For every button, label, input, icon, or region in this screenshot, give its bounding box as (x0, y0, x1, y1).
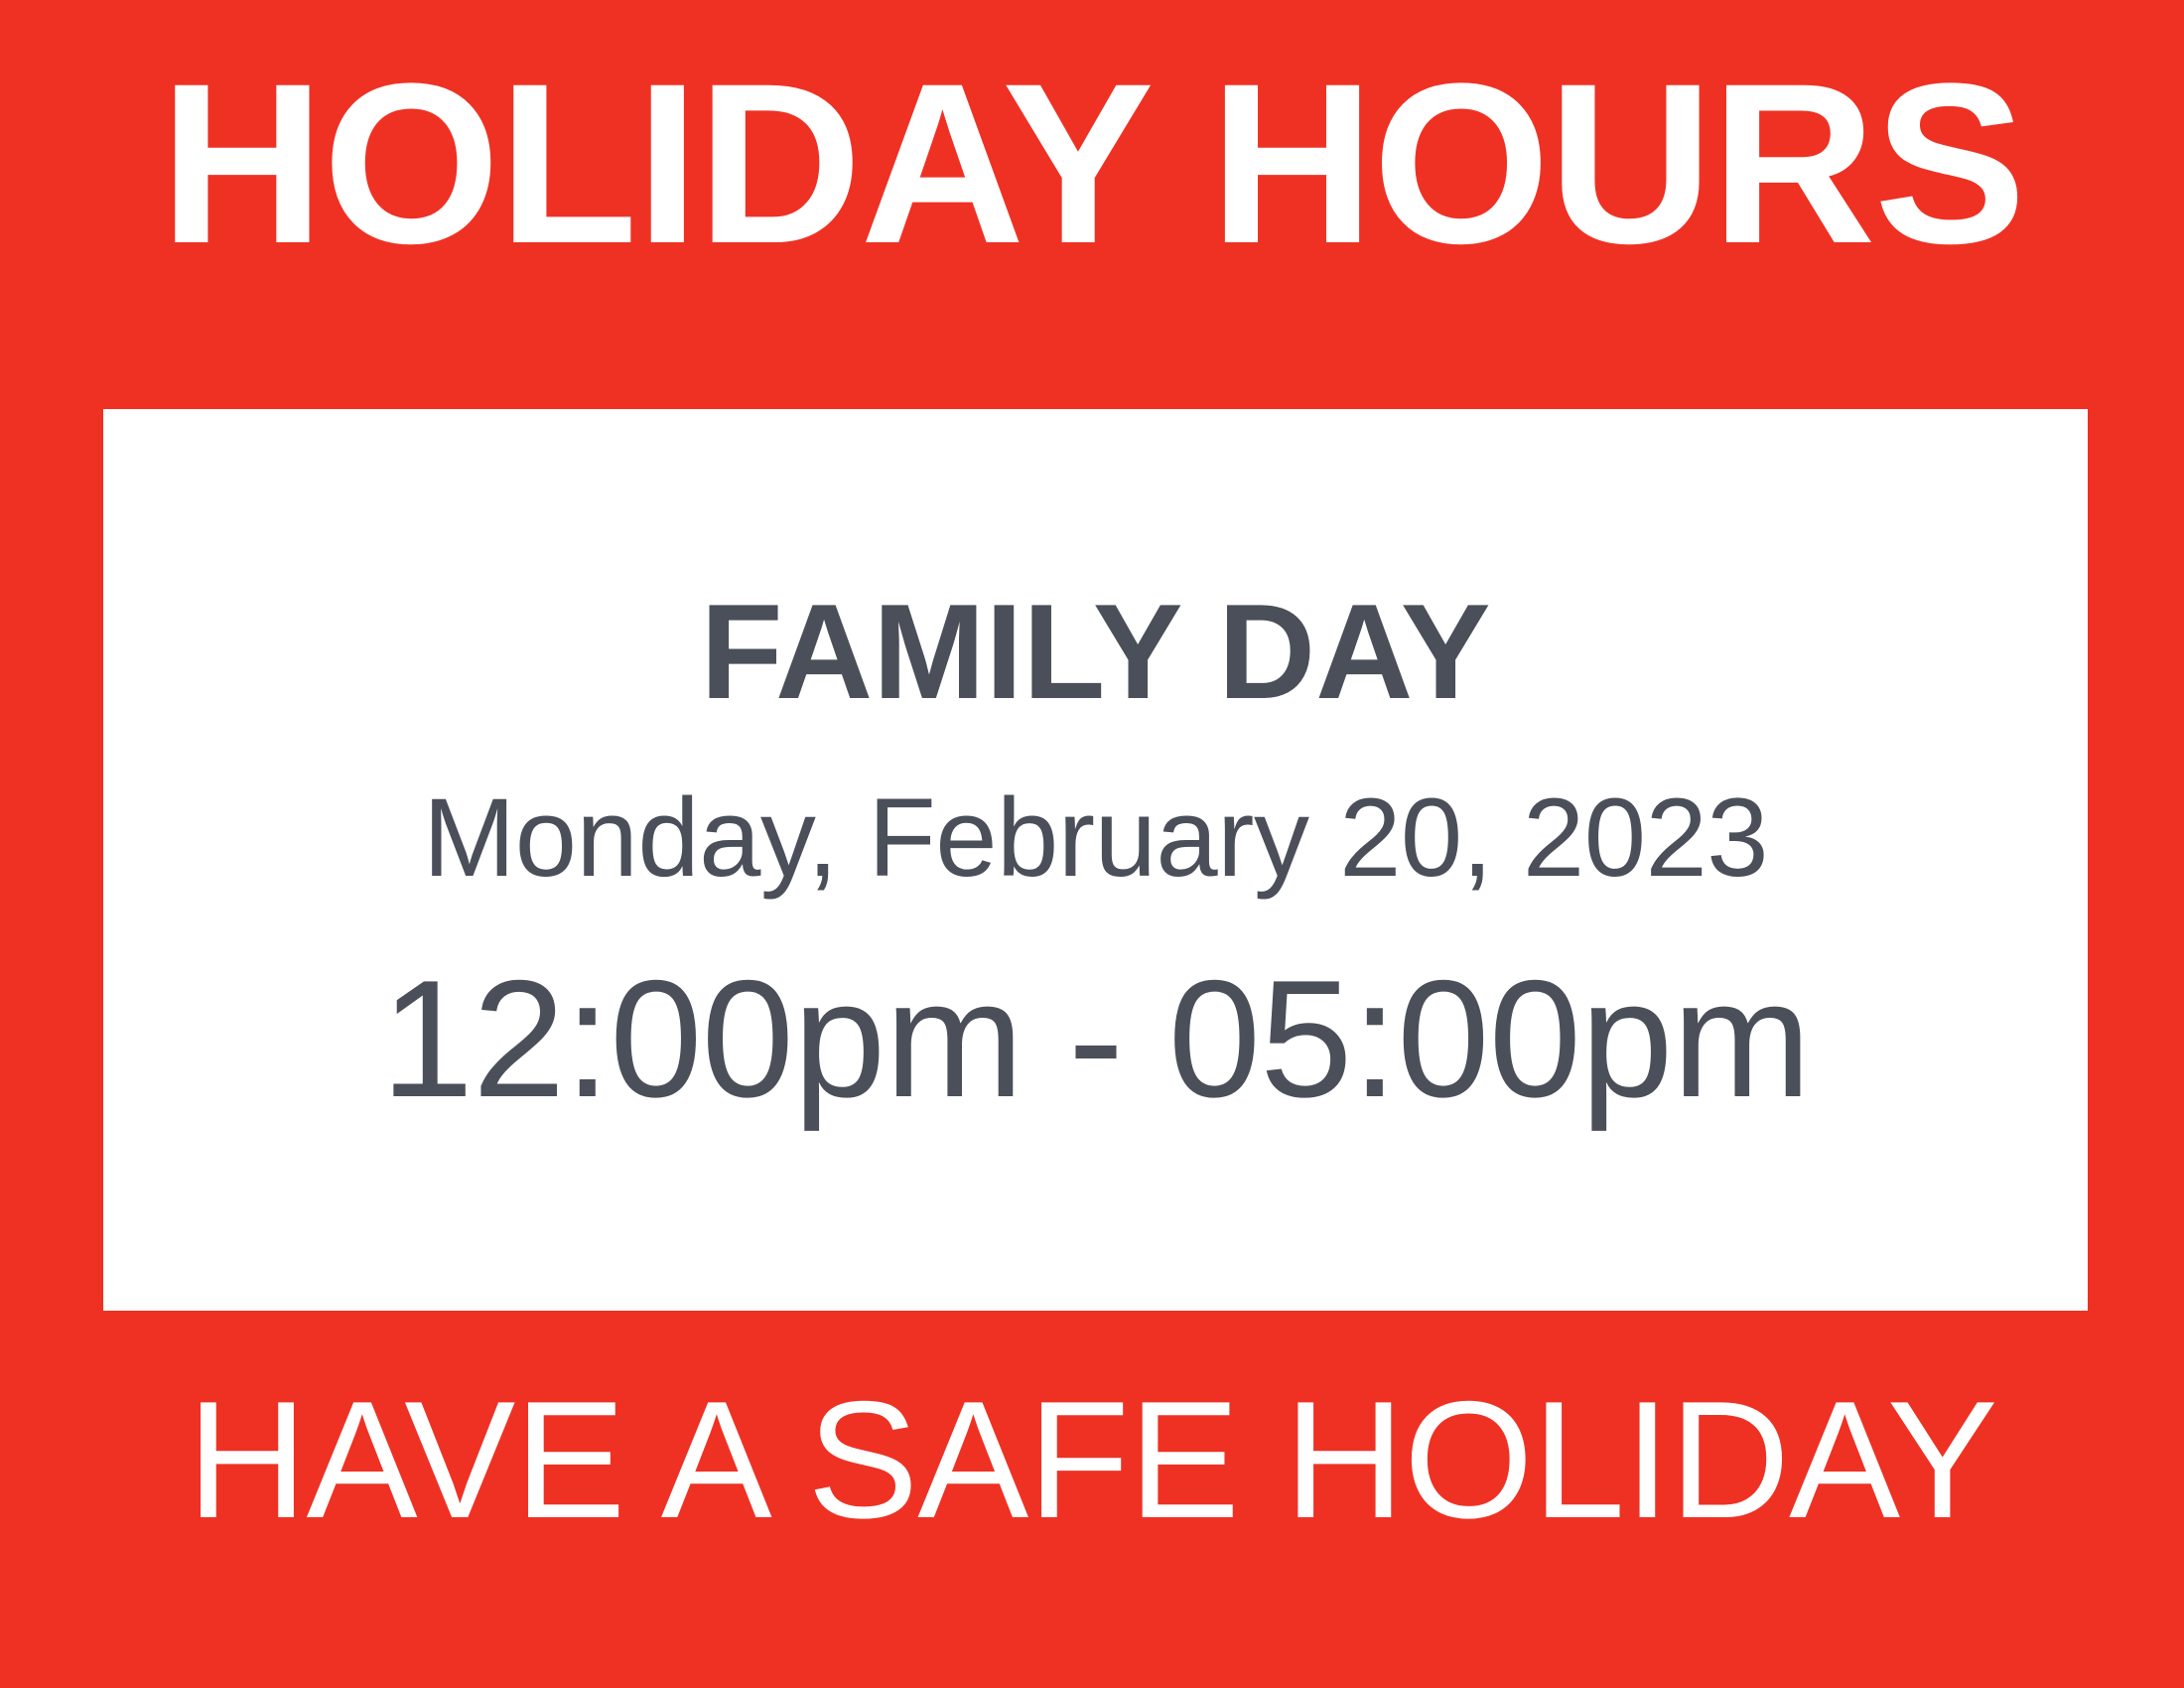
page-title: HOLIDAY HOURS (0, 40, 2184, 288)
holiday-info-card: FAMILY DAY Monday, February 20, 2023 12:… (103, 409, 2088, 1311)
footer-message: HAVE A SAFE HOLIDAY (0, 1370, 2184, 1549)
holiday-hours: 12:00pm - 05:00pm (381, 955, 1811, 1122)
holiday-hours-sign: HOLIDAY HOURS FAMILY DAY Monday, Februar… (0, 0, 2184, 1688)
holiday-date: Monday, February 20, 2023 (423, 782, 1768, 894)
holiday-name: FAMILY DAY (700, 584, 1490, 719)
